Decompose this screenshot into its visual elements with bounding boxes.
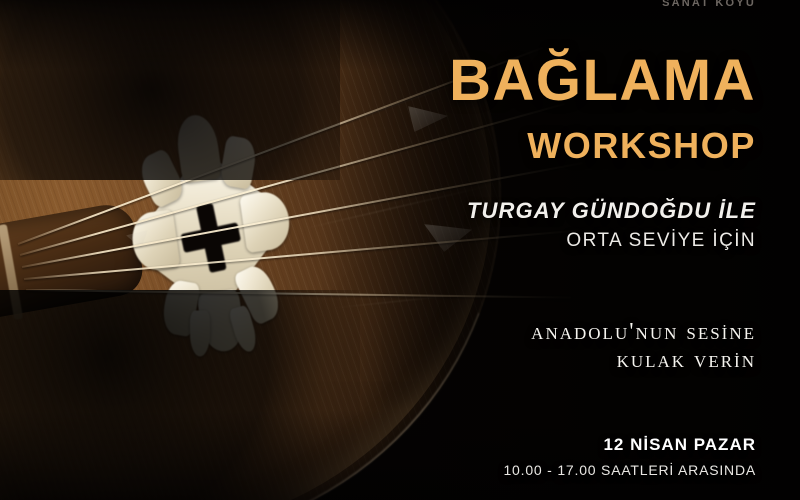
tagline-line-1: ANADOLU'NUN SESİNE bbox=[531, 318, 756, 346]
tagline-line-2: KULAK VERİN bbox=[531, 346, 756, 374]
event-hours: 10.00 - 17.00 SAATLERİ ARASINDA bbox=[503, 462, 756, 478]
poster-tagline: ANADOLU'NUN SESİNE KULAK VERİN bbox=[531, 318, 756, 374]
presenter-name: TURGAY GÜNDOĞDU İLE bbox=[467, 198, 756, 224]
skill-level-note: ORTA SEVİYE İÇİN bbox=[566, 230, 756, 252]
poster-subtitle: WORKSHOP bbox=[527, 128, 756, 164]
poster-canvas: SANAT KÖYÜ BAĞLAMA WORKSHOP TURGAY GÜNDO… bbox=[0, 0, 800, 500]
poster-text-content: SANAT KÖYÜ BAĞLAMA WORKSHOP TURGAY GÜNDO… bbox=[0, 0, 800, 500]
poster-title: BAĞLAMA bbox=[449, 52, 756, 110]
organizer-kicker: SANAT KÖYÜ bbox=[662, 0, 756, 9]
event-date: 12 NİSAN PAZAR bbox=[603, 435, 756, 455]
